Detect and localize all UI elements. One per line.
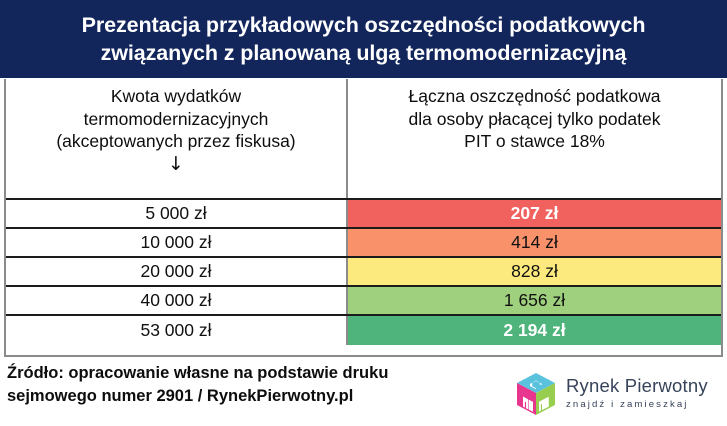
- table-row: 40 000 zł1 656 zł: [6, 287, 721, 316]
- cell-expenditure-amount: 10 000 zł: [6, 229, 348, 256]
- rynek-pierwotny-logo[interactable]: Rynek Pierwotny znajdź i zamieszkaj: [512, 369, 718, 419]
- column-header-expenditure-line-3: (akceptowanych przez fiskusa): [56, 130, 295, 153]
- cell-expenditure-amount: 53 000 zł: [6, 316, 348, 345]
- page-title: Prezentacja przykładowych oszczędności p…: [0, 0, 727, 78]
- table-body: 5 000 zł207 zł10 000 zł414 zł20 000 zł82…: [6, 200, 721, 345]
- cube-houses-logo-icon: [512, 370, 560, 418]
- cell-tax-saving-value: 1 656 zł: [348, 287, 721, 314]
- cell-tax-saving-value: 414 zł: [348, 229, 721, 256]
- column-header-expenditure-line-2: termomodernizacyjnych: [84, 108, 269, 131]
- cell-expenditure-amount: 20 000 zł: [6, 258, 348, 285]
- column-header-expenditure: Kwota wydatków termomodernizacyjnych (ak…: [6, 79, 348, 198]
- column-header-tax-saving: Łączna oszczędność podatkowa dla osoby p…: [348, 79, 721, 198]
- savings-table: Kwota wydatków termomodernizacyjnych (ak…: [4, 79, 723, 357]
- table-row: 5 000 zł207 zł: [6, 200, 721, 229]
- infographic-page: Prezentacja przykładowych oszczędności p…: [0, 0, 727, 426]
- column-header-expenditure-line-1: Kwota wydatków: [111, 85, 241, 108]
- table-row: 20 000 zł828 zł: [6, 258, 721, 287]
- source-note-line-1: Źródło: opracowanie własne na podstawie …: [7, 362, 507, 385]
- table-header-row: Kwota wydatków termomodernizacyjnych (ak…: [6, 79, 721, 200]
- cell-tax-saving-value: 207 zł: [348, 200, 721, 227]
- column-header-tax-saving-line-3: PIT o stawce 18%: [464, 130, 605, 153]
- column-header-tax-saving-line-2: dla osoby płacącej tylko podatek: [409, 108, 661, 131]
- arrow-down-icon: ↓: [168, 154, 184, 175]
- page-title-line-1: Prezentacja przykładowych oszczędności p…: [82, 11, 646, 39]
- logo-brand-name: Rynek Pierwotny: [566, 376, 708, 395]
- table-row: 10 000 zł414 zł: [6, 229, 721, 258]
- source-note-line-2: sejmowego numer 2901 / RynekPierwotny.pl: [7, 385, 507, 408]
- cell-expenditure-amount: 40 000 zł: [6, 287, 348, 314]
- cell-tax-saving-value: 828 zł: [348, 258, 721, 285]
- logo-tagline: znajdź i zamieszkaj: [566, 398, 708, 412]
- source-note: Źródło: opracowanie własne na podstawie …: [7, 362, 507, 409]
- column-header-tax-saving-line-1: Łączna oszczędność podatkowa: [409, 85, 661, 108]
- table-row: 53 000 zł2 194 zł: [6, 316, 721, 345]
- cell-expenditure-amount: 5 000 zł: [6, 200, 348, 227]
- page-title-line-2: związanych z planowaną ulgą termomoderni…: [101, 39, 627, 67]
- logo-text-block: Rynek Pierwotny znajdź i zamieszkaj: [566, 376, 708, 412]
- cell-tax-saving-value: 2 194 zł: [348, 316, 721, 345]
